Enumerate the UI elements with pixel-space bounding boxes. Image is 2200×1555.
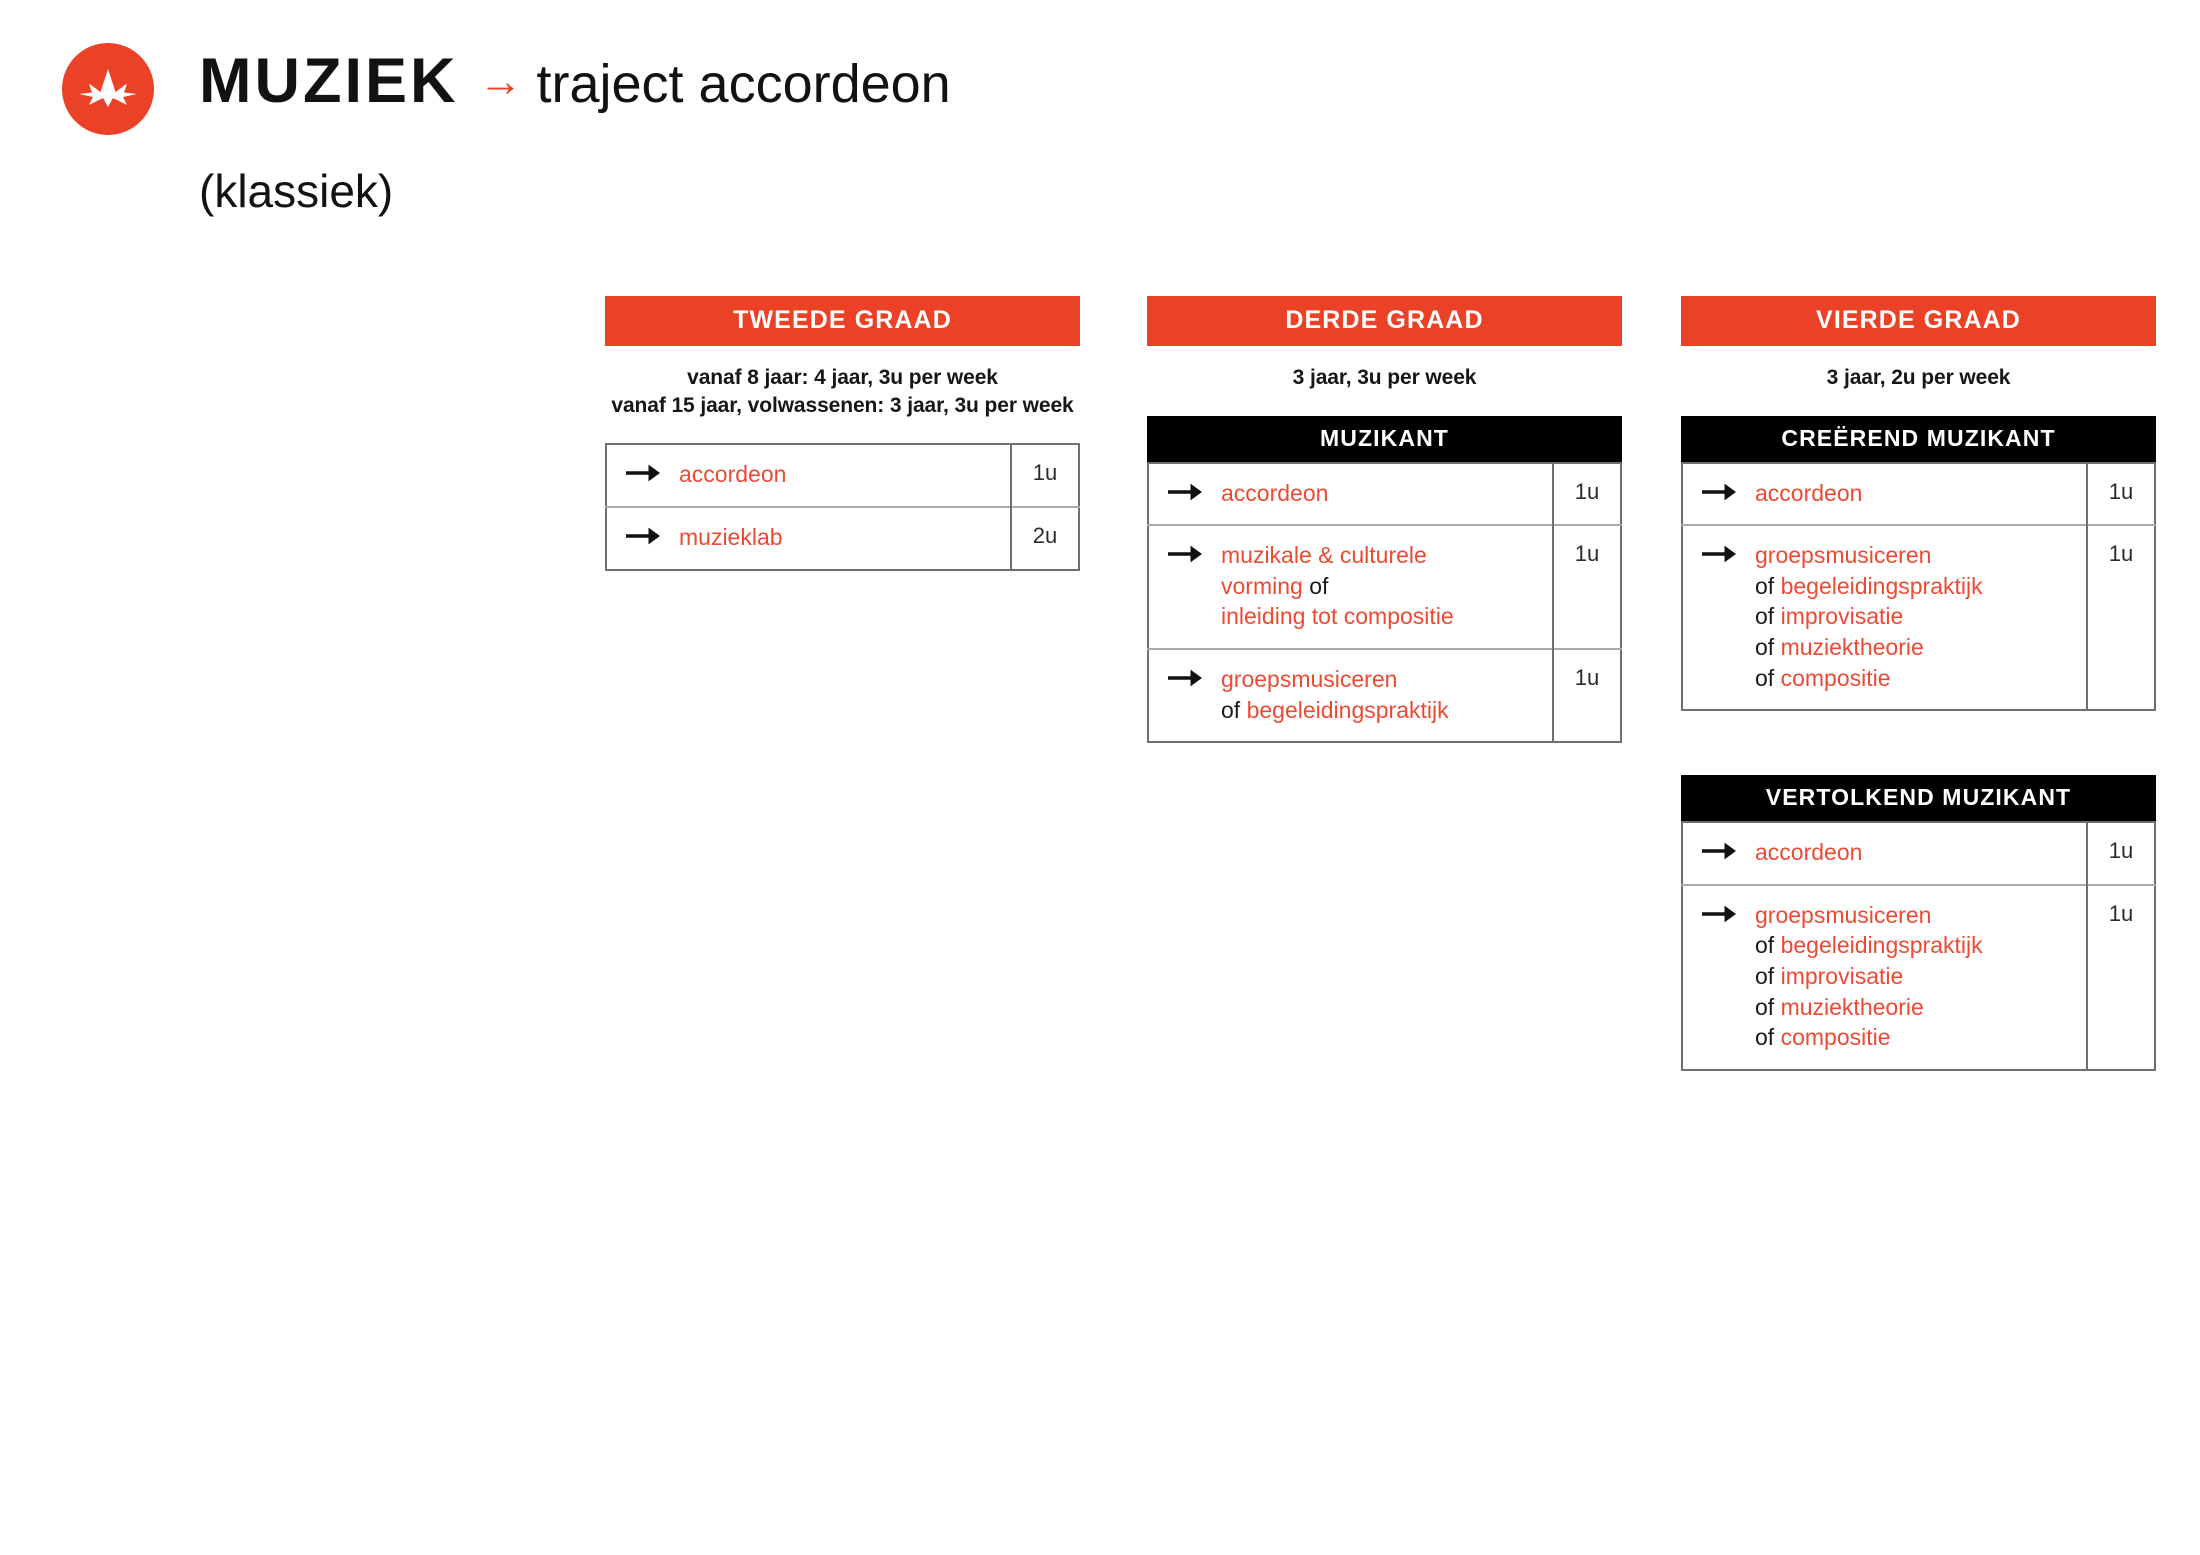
grade-meta: 3 jaar, 2u per week <box>1681 364 2156 392</box>
table-row: muzieklab2u <box>606 507 1079 570</box>
course-line: vorming of <box>1221 571 1542 602</box>
grade-banner: VIERDE GRAAD <box>1681 296 2156 346</box>
category-header: VERTOLKEND MUZIKANT <box>1681 775 2156 821</box>
page-title: MUZIEK → traject accordeon <box>199 50 951 113</box>
course-name: inleiding tot compositie <box>1221 603 1454 629</box>
course-line: of begeleidingspraktijk <box>1755 571 2076 602</box>
course-line-prefix: of <box>1755 634 1781 660</box>
course-name: groepsmusiceren <box>1755 542 1931 568</box>
course-line-prefix: of <box>1755 665 1781 691</box>
course-table-block: accordeon1umuzieklab2u <box>605 443 1080 570</box>
course-name: begeleidingspraktijk <box>1781 932 1983 958</box>
grade-meta: 3 jaar, 3u per week <box>1147 364 1622 392</box>
course-line: of improvisatie <box>1755 601 2076 632</box>
course-name: accordeon <box>1221 480 1328 506</box>
course-name: muzikale & culturele <box>1221 542 1427 568</box>
course-line: of compositie <box>1755 1022 2076 1053</box>
course-hours-value: 1u <box>1554 665 1620 691</box>
course-hours: 1u <box>2087 463 2155 526</box>
page-subtitle: (klassiek) <box>199 168 393 214</box>
table-row: groepsmusicerenof begeleidingspraktijkof… <box>1682 885 2155 1070</box>
grade-column-derde: DERDE GRAAD3 jaar, 3u per weekMUZIKANTac… <box>1147 296 1622 743</box>
course-line: accordeon <box>1221 478 1542 509</box>
page-header: MUZIEK → traject accordeon (klassiek) <box>0 0 2200 250</box>
course-line: groepsmusiceren <box>1221 664 1542 695</box>
title-subject: traject accordeon <box>536 57 950 111</box>
arrow-right-icon <box>606 507 679 570</box>
course-label: groepsmusicerenof begeleidingspraktijk <box>1221 649 1553 742</box>
course-hours: 1u <box>1553 463 1621 526</box>
table-row: accordeon1u <box>1682 463 2155 526</box>
course-line-prefix: of <box>1755 603 1781 629</box>
course-name: accordeon <box>1755 480 1862 506</box>
course-name: muziektheorie <box>1781 634 1924 660</box>
course-line: inleiding tot compositie <box>1221 601 1542 632</box>
course-name: groepsmusiceren <box>1221 666 1397 692</box>
course-table-block: MUZIKANTaccordeon1umuzikale & culturelev… <box>1147 416 1622 743</box>
course-name: compositie <box>1781 1024 1891 1050</box>
course-line: of begeleidingspraktijk <box>1755 930 2076 961</box>
course-name: muzieklab <box>679 524 783 550</box>
course-hours: 1u <box>2087 885 2155 1070</box>
grade-column-vierde: VIERDE GRAAD3 jaar, 2u per weekCREËREND … <box>1681 296 2156 1071</box>
arrow-right-icon <box>1148 649 1221 742</box>
grade-meta-line: 3 jaar, 3u per week <box>1147 364 1622 392</box>
grade-meta: vanaf 8 jaar: 4 jaar, 3u per weekvanaf 1… <box>605 364 1080 419</box>
course-hours-value: 2u <box>1012 523 1078 549</box>
course-hours: 1u <box>2087 525 2155 710</box>
course-hours-value: 1u <box>2088 479 2154 505</box>
course-hours-value: 1u <box>1554 479 1620 505</box>
table-row: accordeon1u <box>1148 463 1621 526</box>
arrow-right-icon <box>1682 463 1755 526</box>
course-table: accordeon1umuzikale & culturelevorming o… <box>1147 462 1622 743</box>
course-name: compositie <box>1781 665 1891 691</box>
course-table: accordeon1umuzieklab2u <box>605 443 1080 570</box>
course-name: improvisatie <box>1781 603 1904 629</box>
course-label: accordeon <box>1755 463 2087 526</box>
course-table: accordeon1ugroepsmusicerenof begeleiding… <box>1681 821 2156 1070</box>
table-row: groepsmusicerenof begeleidingspraktijkof… <box>1682 525 2155 710</box>
course-hours: 1u <box>1011 444 1079 507</box>
course-label: accordeon <box>1755 822 2087 885</box>
grade-meta-line: vanaf 15 jaar, volwassenen: 3 jaar, 3u p… <box>605 392 1080 420</box>
course-line-suffix: of <box>1303 573 1329 599</box>
course-name: begeleidingspraktijk <box>1781 573 1983 599</box>
course-name: begeleidingspraktijk <box>1247 697 1449 723</box>
course-line: of begeleidingspraktijk <box>1221 695 1542 726</box>
course-label: groepsmusicerenof begeleidingspraktijkof… <box>1755 525 2087 710</box>
course-hours-value: 1u <box>1554 541 1620 567</box>
course-hours-value: 1u <box>1012 460 1078 486</box>
course-line: groepsmusiceren <box>1755 540 2076 571</box>
course-line: of improvisatie <box>1755 961 2076 992</box>
course-line-prefix: of <box>1755 932 1781 958</box>
arrow-right-icon <box>1148 463 1221 526</box>
course-name: accordeon <box>1755 839 1862 865</box>
course-line: accordeon <box>1755 478 2076 509</box>
course-hours: 1u <box>2087 822 2155 885</box>
course-line: of muziektheorie <box>1755 632 2076 663</box>
grade-meta-line: 3 jaar, 2u per week <box>1681 364 2156 392</box>
arrow-right-icon <box>606 444 679 507</box>
course-table: accordeon1ugroepsmusicerenof begeleiding… <box>1681 462 2156 711</box>
course-line: of compositie <box>1755 663 2076 694</box>
course-line: accordeon <box>1755 837 2076 868</box>
course-label: muzieklab <box>679 507 1011 570</box>
course-name: groepsmusiceren <box>1755 902 1931 928</box>
course-name: vorming <box>1221 573 1303 599</box>
arrow-right-icon <box>1682 885 1755 1070</box>
arrow-right-icon <box>1148 525 1221 649</box>
course-line: muzieklab <box>679 522 1000 553</box>
course-table-block: VERTOLKEND MUZIKANTaccordeon1ugroepsmusi… <box>1681 775 2156 1070</box>
course-line: of muziektheorie <box>1755 992 2076 1023</box>
course-label: accordeon <box>1221 463 1553 526</box>
course-line-prefix: of <box>1221 697 1247 723</box>
category-header: CREËREND MUZIKANT <box>1681 416 2156 462</box>
arrow-right-icon <box>1682 822 1755 885</box>
course-hours-value: 1u <box>2088 838 2154 864</box>
course-line: muzikale & culturele <box>1221 540 1542 571</box>
course-label: accordeon <box>679 444 1011 507</box>
table-spacer <box>1681 711 2156 775</box>
course-line-prefix: of <box>1755 573 1781 599</box>
course-label: groepsmusicerenof begeleidingspraktijkof… <box>1755 885 2087 1070</box>
course-line-prefix: of <box>1755 1024 1781 1050</box>
course-table-block: CREËREND MUZIKANTaccordeon1ugroepsmusice… <box>1681 416 2156 711</box>
course-hours-value: 1u <box>2088 541 2154 567</box>
course-label: muzikale & culturelevorming ofinleiding … <box>1221 525 1553 649</box>
arrow-right-icon <box>1682 525 1755 710</box>
course-hours-value: 1u <box>2088 901 2154 927</box>
category-header: MUZIKANT <box>1147 416 1622 462</box>
table-row: accordeon1u <box>1682 822 2155 885</box>
grade-column-tweede: TWEEDE GRAADvanaf 8 jaar: 4 jaar, 3u per… <box>605 296 1080 571</box>
muziek-star-m-logo-icon <box>62 43 154 135</box>
course-hours: 2u <box>1011 507 1079 570</box>
title-main: MUZIEK <box>199 50 458 113</box>
course-hours: 1u <box>1553 649 1621 742</box>
table-row: groepsmusicerenof begeleidingspraktijk1u <box>1148 649 1621 742</box>
course-line-prefix: of <box>1755 963 1781 989</box>
course-hours: 1u <box>1553 525 1621 649</box>
course-name: accordeon <box>679 461 786 487</box>
course-line-prefix: of <box>1755 994 1781 1020</box>
arrow-right-icon: → <box>478 60 522 104</box>
grade-banner: TWEEDE GRAAD <box>605 296 1080 346</box>
course-name: improvisatie <box>1781 963 1904 989</box>
course-line: groepsmusiceren <box>1755 900 2076 931</box>
course-name: muziektheorie <box>1781 994 1924 1020</box>
grade-meta-line: vanaf 8 jaar: 4 jaar, 3u per week <box>605 364 1080 392</box>
grade-banner: DERDE GRAAD <box>1147 296 1622 346</box>
course-line: accordeon <box>679 459 1000 490</box>
table-row: accordeon1u <box>606 444 1079 507</box>
table-row: muzikale & culturelevorming ofinleiding … <box>1148 525 1621 649</box>
